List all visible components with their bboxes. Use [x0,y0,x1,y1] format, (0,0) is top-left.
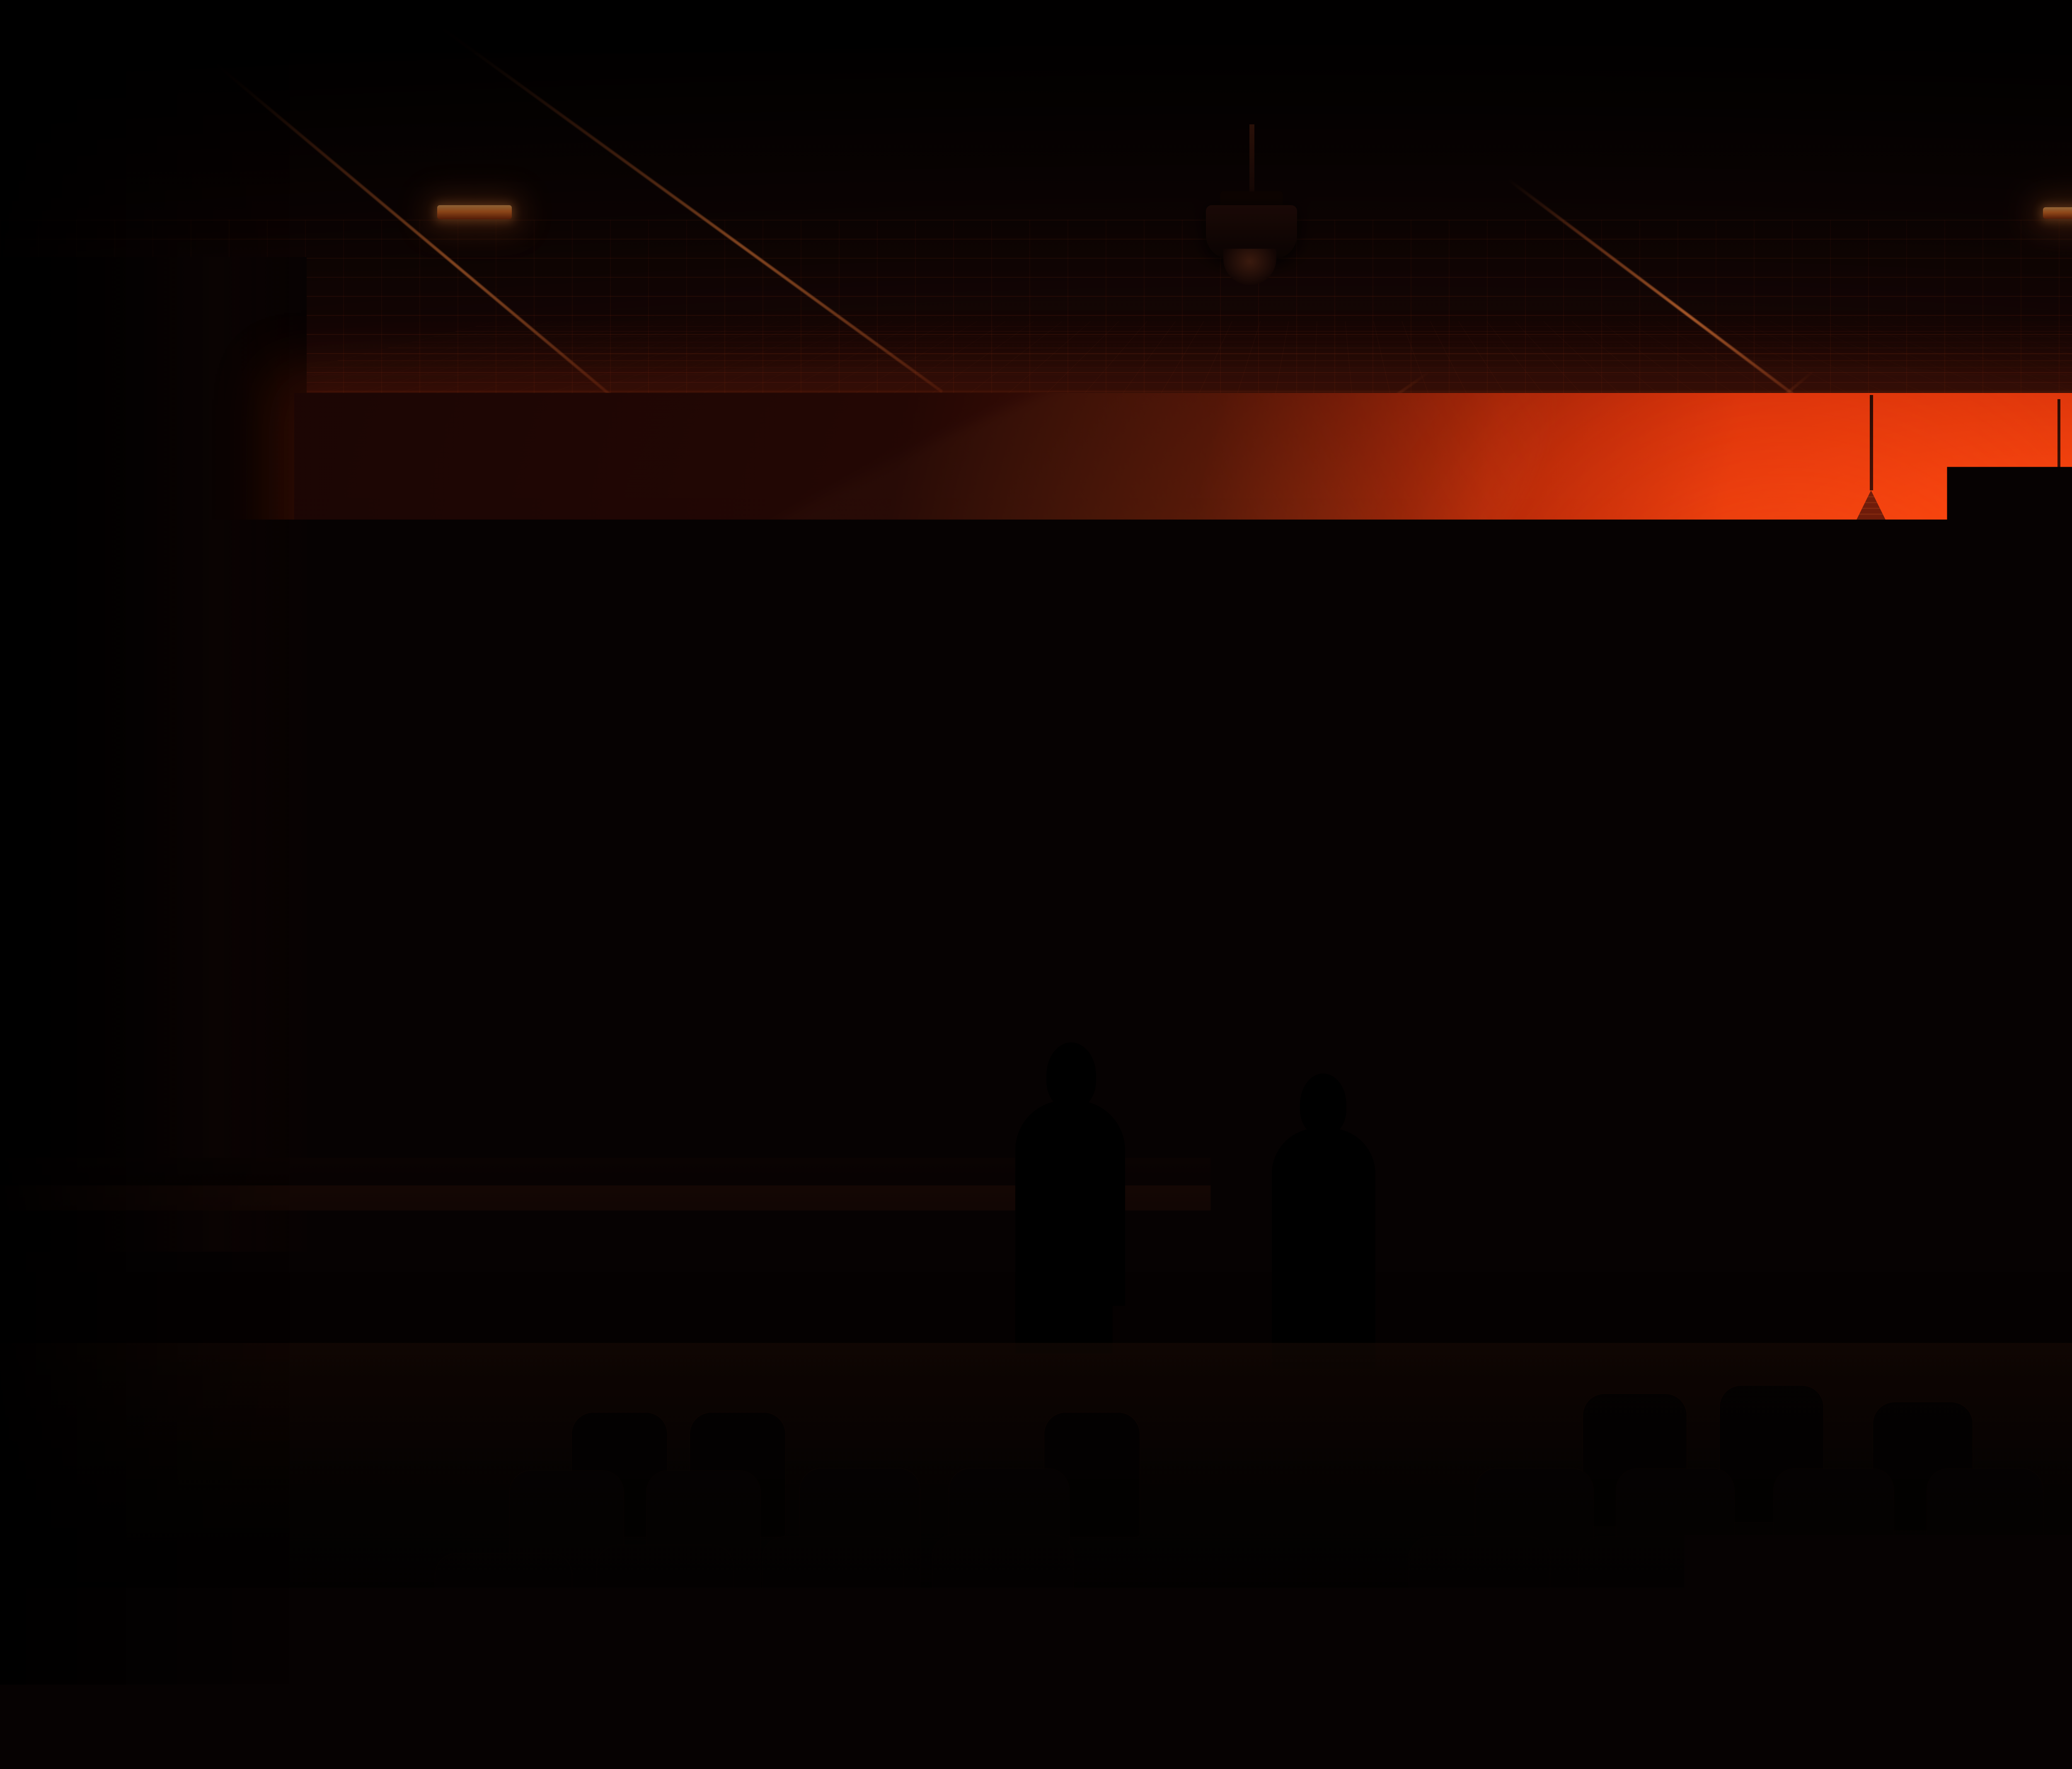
presentation-screen[interactable]: Brange Experience The Future Of Property… [294,393,2072,1158]
auditorium-seats [0,1343,2072,1769]
seat [597,1545,733,1769]
headline-accent-future: Future [925,625,1146,706]
seat [932,1535,1073,1769]
wall-left [0,257,307,1252]
page-title: Experience The Future Of Property Manage… [381,622,1583,797]
seat [762,1537,903,1769]
headline-accent-property: Property [381,712,673,793]
projector-mount-rod [1249,124,1254,197]
headline-line1-part1: Experience The [381,625,925,706]
ceiling [0,0,2072,398]
seat [1579,1537,1720,1769]
seat [1409,1537,1550,1769]
standing-person-silhouette [1007,1042,1131,1349]
headline-line2-part2: Management [673,712,1128,793]
headline-line1-part2: Of [1146,625,1244,706]
brange-logo-icon [381,476,432,526]
standing-person-silhouette [1266,1074,1382,1364]
seat [435,1553,572,1769]
auditorium-room: Brange Experience The Future Of Property… [0,0,2072,1769]
screen-content: Brange Experience The Future Of Property… [381,476,1583,970]
seat [1749,1543,1890,1769]
seat [1919,1553,2055,1769]
brand-lockup[interactable]: Brange [381,476,1583,526]
body-paragraph: Brange provide property managers, landlo… [381,880,1123,970]
brand-name: Brange [450,481,585,521]
ceiling-vignette [0,0,2072,398]
